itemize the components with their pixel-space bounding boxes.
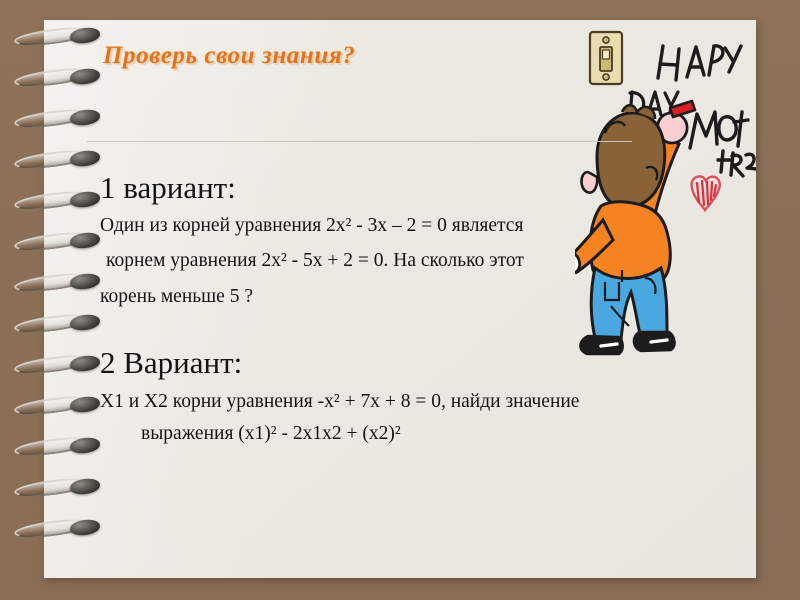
page-title: Проверь свои знания? — [103, 42, 355, 70]
variant-2-line-2: выражения (x1)² - 2x1x2 + (x2)² — [141, 423, 401, 445]
variant-2-line-1: X1 и X2 корни уравнения -x² + 7x + 8 = 0… — [100, 391, 579, 413]
variant-1-line-1: Один из корней уравнения 2x² - 3x – 2 = … — [100, 215, 523, 237]
variant-1-line-2: корнем уравнения 2x² - 5x + 2 = 0. На ск… — [106, 250, 524, 272]
variant-1-heading: 1 вариант: — [100, 170, 236, 206]
slide-content: Проверь свои знания? 1 вариант: Один из … — [100, 20, 740, 578]
title-divider — [87, 141, 632, 142]
variant-2-heading: 2 Вариант: — [100, 345, 242, 381]
slide-canvas: Проверь свои знания? 1 вариант: Один из … — [0, 0, 800, 600]
variant-1-line-3: корень меньше 5 ? — [100, 286, 253, 308]
